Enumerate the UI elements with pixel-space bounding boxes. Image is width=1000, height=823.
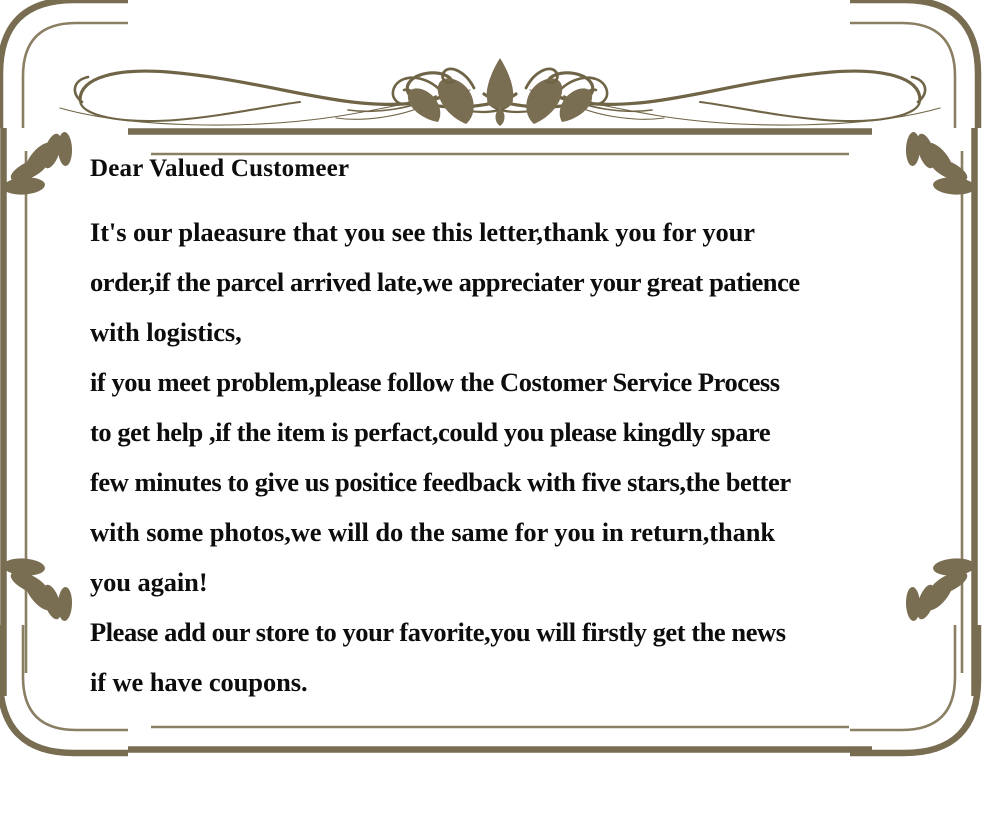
frame-corner-top-left [0, 0, 128, 128]
flourish-scroll-right [484, 71, 940, 125]
letter-line: order,if the parcel arrived late,we appr… [90, 257, 990, 307]
palmette-medallion-icon [408, 58, 592, 126]
flourish-scroll-left [60, 71, 516, 125]
letter-line: with some photos,we will do the same for… [90, 507, 990, 557]
flourish-curl-right [560, 78, 664, 119]
letter-line: you again! [90, 557, 990, 607]
flourish-curl-left [336, 78, 440, 119]
letter-card: Dear Valued Customeer It's our plaeasure… [0, 0, 1000, 823]
letter-line: Please add our store to your favorite,yo… [90, 607, 990, 657]
corner-fan-bottom-left-icon [2, 557, 72, 621]
frame-bottom-rule [128, 727, 872, 750]
top-flourish-ornament [0, 44, 1000, 140]
letter-line: It's our plaeasure that you see this let… [90, 207, 990, 257]
letter-paragraphs: It's our plaeasure that you see this let… [90, 207, 990, 707]
letter-line: if you meet problem,please follow the Co… [90, 357, 990, 407]
frame-top-rule [128, 132, 872, 155]
corner-fan-top-left-icon [2, 132, 72, 196]
letter-line: if we have coupons. [90, 657, 990, 707]
frame-corner-top-right [850, 0, 978, 128]
letter-line: to get help ,if the item is perfact,coul… [90, 407, 990, 457]
letter-text-body: Dear Valued Customeer It's our plaeasure… [90, 156, 990, 707]
salutation: Dear Valued Customeer [90, 156, 990, 181]
letter-line: with logistics, [90, 307, 990, 357]
frame-left-rule [4, 128, 27, 696]
letter-line: few minutes to give us positice feedback… [90, 457, 990, 507]
